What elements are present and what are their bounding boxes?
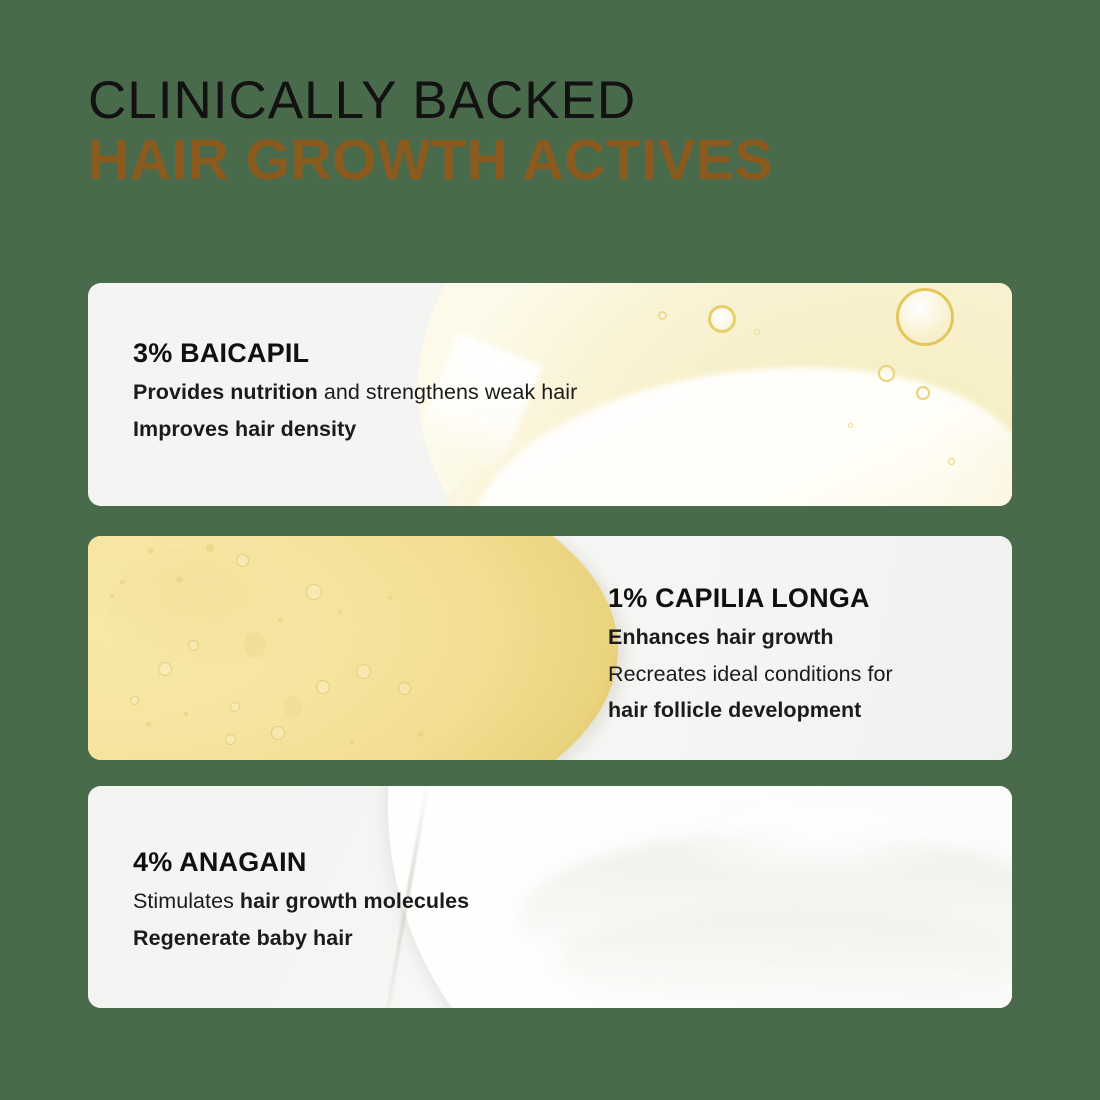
ingredient-copy-baicapil: 3% BAICAPIL Provides nutrition and stren… xyxy=(133,339,577,449)
ingredient-benefit-line: Provides nutrition and strengthens weak … xyxy=(133,376,577,409)
bubble-tiny-icon xyxy=(948,458,955,465)
ingredient-benefit-line: Improves hair density xyxy=(133,413,577,446)
ingredient-name: 1% CAPILIA LONGA xyxy=(608,584,893,612)
ingredient-card-capilia-longa[interactable]: 1% CAPILIA LONGA Enhances hair growth Re… xyxy=(88,536,1012,760)
bubble-small-icon xyxy=(878,365,895,382)
gel-speck-dot xyxy=(338,610,342,614)
benefit-emphasis: hair follicle development xyxy=(608,698,861,722)
gel-speck-dot xyxy=(388,596,392,600)
benefit-emphasis: Provides nutrition xyxy=(133,380,318,404)
ingredient-benefit-line: Regenerate baby hair xyxy=(133,922,469,955)
poster-canvas: CLINICALLY BACKED HAIR GROWTH ACTIVES 3%… xyxy=(0,0,1100,1100)
gel-bubble-icon xyxy=(398,682,411,695)
ingredient-copy-capilia-longa: 1% CAPILIA LONGA Enhances hair growth Re… xyxy=(608,584,893,730)
gel-bubble-icon xyxy=(130,696,139,705)
benefit-text: and strengthens weak hair xyxy=(318,380,577,404)
gel-speck-dot xyxy=(350,740,354,744)
gel-bubble-icon xyxy=(230,702,240,712)
gel-speck-dot xyxy=(206,544,214,552)
title-line-accent: HAIR GROWTH ACTIVES xyxy=(88,133,1008,188)
gel-speck-dot xyxy=(146,722,151,727)
gel-speck-dot xyxy=(148,548,154,554)
gel-bubble-icon xyxy=(225,734,236,745)
cream-gloss-highlight xyxy=(648,794,988,884)
cream-fold-shape xyxy=(558,906,1012,1008)
gel-speck-dot xyxy=(176,576,183,583)
bubble-tiny-icon xyxy=(848,423,853,428)
gel-speck-dot xyxy=(120,580,125,585)
bubble-small-icon xyxy=(916,386,930,400)
bubble-medium-icon xyxy=(708,305,736,333)
benefit-emphasis: Regenerate baby hair xyxy=(133,926,353,950)
gel-speck-dot xyxy=(244,632,266,658)
gel-bubble-icon xyxy=(306,584,322,600)
ingredient-benefit-line: hair follicle development xyxy=(608,694,893,727)
gel-speck-dot xyxy=(284,696,302,718)
ingredient-benefit-line: Stimulates hair growth molecules xyxy=(133,885,469,918)
ingredient-name: 3% BAICAPIL xyxy=(133,339,577,367)
gel-bubble-icon xyxy=(236,554,249,567)
bubble-tiny-icon xyxy=(658,311,667,320)
benefit-emphasis: Improves hair density xyxy=(133,417,356,441)
ingredient-copy-anagain: 4% ANAGAIN Stimulates hair growth molecu… xyxy=(133,848,469,958)
bubble-large-icon xyxy=(896,288,954,346)
ingredient-name: 4% ANAGAIN xyxy=(133,848,469,876)
ingredient-card-baicapil[interactable]: 3% BAICAPIL Provides nutrition and stren… xyxy=(88,283,1012,506)
gel-speck-dot xyxy=(184,712,188,716)
benefit-emphasis: hair growth molecules xyxy=(240,889,469,913)
ingredient-benefit-line: Recreates ideal conditions for xyxy=(608,658,893,691)
benefit-text: Stimulates xyxy=(133,889,240,913)
ingredient-card-anagain[interactable]: 4% ANAGAIN Stimulates hair growth molecu… xyxy=(88,786,1012,1008)
benefit-text: Recreates ideal conditions for xyxy=(608,662,893,686)
gel-speck-dot xyxy=(110,594,114,598)
title-line-primary: CLINICALLY BACKED xyxy=(88,76,1008,127)
benefit-emphasis: Enhances hair growth xyxy=(608,625,834,649)
gel-haze-highlight xyxy=(108,544,318,674)
bubble-tiny-icon xyxy=(754,329,760,335)
page-title: CLINICALLY BACKED HAIR GROWTH ACTIVES xyxy=(88,76,1008,188)
gel-speck-dot xyxy=(418,732,423,737)
gel-bubble-icon xyxy=(356,664,371,679)
gel-bubble-icon xyxy=(188,640,199,651)
ingredient-benefit-line: Enhances hair growth xyxy=(608,621,893,654)
gel-speck-dot xyxy=(278,618,283,623)
gel-bubble-icon xyxy=(316,680,330,694)
gel-bubble-icon xyxy=(158,662,172,676)
gel-bubble-icon xyxy=(271,726,285,740)
